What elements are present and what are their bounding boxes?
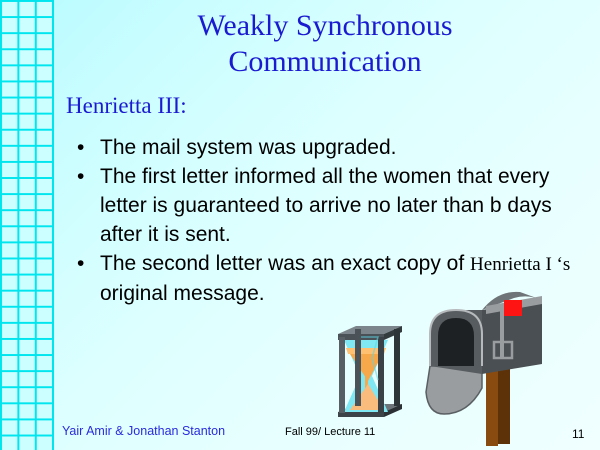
mailbox-icon <box>424 288 566 450</box>
bullet-point-icon: • <box>77 162 84 191</box>
slide-canvas: Weakly Synchronous Communication Henriet… <box>0 0 600 450</box>
bullet-list: • The mail system was upgraded. • The fi… <box>72 133 572 308</box>
list-item: • The mail system was upgraded. <box>72 133 572 162</box>
grid-decoration <box>0 0 54 450</box>
grid-right-edge-line <box>52 0 54 450</box>
list-item-text-part2: original message. <box>100 282 265 305</box>
list-item-text: The first letter informed all the women … <box>100 162 572 249</box>
footer-lecture-label: Fall 99/ Lecture 11 <box>285 426 375 438</box>
footer-authors: Yair Amir & Jonathan Stanton <box>62 424 225 438</box>
title-line-1: Weakly Synchronous <box>70 8 580 44</box>
footer-page-number: 11 <box>572 427 584 441</box>
hourglass-icon <box>322 318 418 431</box>
subtitle-heading: Henrietta III: <box>66 92 187 120</box>
bullet-point-icon: • <box>77 133 84 162</box>
list-item: • The first letter informed all the wome… <box>72 162 572 249</box>
list-item-text: The mail system was upgraded. <box>100 133 572 162</box>
bullet-point-icon: • <box>77 249 84 278</box>
page-title: Weakly Synchronous Communication <box>70 8 580 80</box>
title-line-2: Communication <box>70 44 580 80</box>
list-item-text-part1: The second letter was an exact copy of <box>100 252 470 275</box>
list-item-serif-name: Henrietta I ‘s <box>470 254 570 275</box>
